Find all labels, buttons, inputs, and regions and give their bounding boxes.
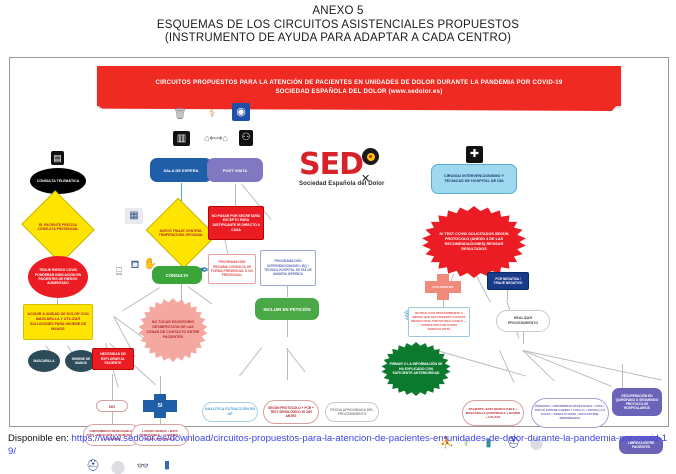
node-label: NO [97,404,127,409]
node-pcr-positiva[interactable]: PCR POSITIVA [425,274,461,300]
node-analitica-extraccion[interactable]: ANALÍTICA EXTRACCIÓN EN AP [202,402,258,422]
node-label: ACUDIR A UNIDAD DE DOLOR CON MASCARILLA … [24,312,92,332]
node-triaje-riesgo-covid[interactable]: TRIAJE RIESGO COVID PONDERAR INDICACIÓN … [28,256,88,298]
node-label: PERSONAL: UNIFORMIDAD DESECHABLE + FFP2 … [532,405,608,420]
footer-source: Disponible en: https://www.sedolor.es/do… [8,432,670,458]
node-label: SALA DE ESPERA [150,168,212,173]
sed-dart-icon: ✕ [361,172,370,185]
sed-wordmark: SED [299,150,405,180]
node-pcr-negativa[interactable]: PCR NEGATIVA / TRIAJE NEGATIVO [487,272,529,290]
node-label: NO PASAR POR SECRETARÍA EXCEPTO PARA JUS… [209,214,263,232]
node-necesidad-explorar[interactable]: NECESIDAD DE EXPLORAR AL PACIENTE [92,348,134,370]
node-label: NECESIDAD DE EXPLORAR AL PACIENTE [93,352,133,365]
node-label: MASCARILLA [28,359,60,363]
reception-desk-icon: ▦ [125,208,143,224]
node-nuevo-triaje-temperatura[interactable]: NUEVO TRIAJE CONTROL TEMPERATURA OPCIONA… [154,210,208,256]
node-realizar-procedimiento[interactable]: REALIZAR PROCEDIMIENTO [496,310,550,332]
node-label: PACIENTE: BATA DESECHABLE + MASCARILLA Q… [463,407,523,419]
connector [239,347,262,376]
node-branch-no[interactable]: NO [96,400,128,412]
globe-icon: ◉ [232,103,250,121]
banner: CIRCUITOS PROPUESTOS PARA LA ATENCIÓN DE… [97,66,621,106]
connector [287,348,288,380]
node-post-visita[interactable]: POST VISITA [207,158,263,182]
node-segun-protocolo-pcr[interactable]: SEGÚN PROTOCOLO + PCR + TEST SEROLÓGICO … [263,400,319,424]
node-label: CONSULTA [152,273,202,278]
node-label: SEGÚN PROTOCOLO + PCR + TEST SEROLÓGICO … [264,406,318,419]
connector [523,350,612,387]
node-test-covid-solicitados[interactable]: NI TEST COVID SOLICITADOS SEGÚN PROTOCOL… [420,206,528,278]
node-consulta[interactable]: CONSULTA [152,266,202,284]
banner-line-2: SOCIEDAD ESPAÑOLA DEL DOLOR (www.sedolor… [97,87,621,96]
node-label: NO TOCAR ESCRITORIO DESINFECCIÓN DE LAS … [137,320,209,340]
soap-dispenser-icon: ⌸ [113,264,125,280]
node-label: FECHA APROXIMADA DEL PROCEDIMIENTO [326,408,378,417]
node-fecha-aproximada[interactable]: FECHA APROXIMADA DEL PROCEDIMIENTO [325,402,379,422]
node-branch-si[interactable]: SI [143,394,177,418]
node-label: REALIZAR PROCEDIMIENTO [497,316,549,325]
hand-sanitizer-icon: ⛾ [128,257,142,273]
node-no-pasar-secretaria[interactable]: NO PASAR POR SECRETARÍA EXCEPTO PARA JUS… [208,206,264,240]
telemedicine-screen-icon: ▤ [51,151,64,165]
source-link[interactable]: https://www.sedolor.es/download/circuito… [8,433,667,457]
node-label: SI [158,403,163,409]
node-label: PCR NEGATIVA / TRIAJE NEGATIVO [488,277,528,285]
node-mascarilla[interactable]: MASCARILLA [28,350,60,372]
node-label: NI TEST COVID SOLICITADOS SEGÚN PROTOCOL… [420,232,528,253]
connector [286,348,305,372]
node-label: POST VISITA [207,168,263,173]
sed-target-icon [362,148,379,165]
sed-logo: SED ✕ Sociedad Española del Dolor [299,150,405,204]
connector [187,286,212,305]
connector [112,374,113,400]
node-acudir-unidad-dolor[interactable]: ACUDIR A UNIDAD DE DOLOR CON MASCARILLA … [23,304,93,340]
title-line-instrumento: (INSTRUMENTO DE AYUDA PARA ADAPTAR A CAD… [0,32,676,46]
hand-wash-icon: ⚕ [204,106,220,122]
walking-person-icon: ⚇ [239,130,253,146]
node-programacion-consulta[interactable]: PROGRAMACIÓN PRÓXIMA CONSULTA DE FORMA P… [208,254,256,284]
ppe-suit-icon: ⛑ [86,458,100,474]
node-sala-de-espera[interactable]: SALA DE ESPERA [150,158,212,182]
id-card-icon: ▥ [173,131,190,146]
connector [523,350,662,381]
node-label: EL PACIENTE PRECISA CONSULTA PRESENCIAL [30,223,86,232]
title-line-esquemas: ESQUEMAS DE LOS CIRCUITOS ASISTENCIALES … [0,19,676,33]
node-label: INCLUIR EN PETICIÓN [255,307,319,312]
node-label: CIRUGÍA/ INTERVENCIONISMO Y TÉCNICAS DE … [432,174,516,184]
node-precisa-consulta-presencial[interactable]: EL PACIENTE PRECISA CONSULTA PRESENCIAL [30,203,86,251]
waste-bin-icon: 🗑 [173,106,187,122]
connector [112,410,113,424]
poster-frame: CIRCUITOS PROPUESTOS PARA LA ATENCIÓN DE… [9,57,669,427]
node-incluir-en-peticion[interactable]: INCLUIR EN PETICIÓN [255,298,319,320]
goggles-icon: 👓 [134,460,152,474]
node-label: FIRMAR O LA INFORMACIÓN SE HA EXPLICADO … [380,362,452,376]
node-label: ANALÍTICA EXTRACCIÓN EN AP [203,407,257,416]
node-cirugia-intervencionismo[interactable]: CIRUGÍA/ INTERVENCIONISMO Y TÉCNICAS DE … [431,164,517,194]
connector [622,364,623,388]
node-label: PROGRAMACIÓN INTERVENCIONISMO / BQ / TÉC… [261,259,315,277]
node-recuperacion-quirofano[interactable]: RECUPERACIÓN EN QUIRÓFANO O SEGUIENDO PR… [612,388,662,416]
page-title: ANEXO 5 ESQUEMAS DE LOS CIRCUITOS ASISTE… [0,0,676,46]
face-mask-icon: ⬤ [111,458,125,474]
footer-prefix: Disponible en: [8,433,71,444]
node-label: NUEVO TRIAJE CONTROL TEMPERATURA OPCIONA… [154,229,208,238]
node-personal-epi[interactable]: PERSONAL: UNIFORMIDAD DESECHABLE + FFP2 … [531,398,609,428]
node-no-realizar-procedimiento[interactable]: NO REALIZAR PROCEDIMIENTO A MENOS QUE SE… [408,307,470,337]
node-label: RECUPERACIÓN EN QUIRÓFANO O SEGUIENDO PR… [612,394,662,411]
seat-distance-icon: ⌂⟷⌂ [196,130,236,146]
blue-figure-icon: ▮ [162,457,172,474]
node-programacion-intervencionismo[interactable]: PROGRAMACIÓN INTERVENCIONISMO / BQ / TÉC… [260,250,316,286]
node-no-tocar-escritorio[interactable]: NO TOCAR ESCRITORIO DESINFECCIÓN DE LAS … [137,298,209,362]
connector [499,350,515,383]
node-paciente-epi[interactable]: PACIENTE: BATA DESECHABLE + MASCARILLA Q… [462,400,524,426]
node-label: PCR POSITIVA [433,285,454,289]
node-label: NO REALIZAR PROCEDIMIENTO A MENOS QUE SE… [409,312,469,332]
node-label: TRIAJE RIESGO COVID PONDERAR INDICACIÓN … [28,268,88,286]
title-line-anexo: ANEXO 5 [0,5,676,19]
node-firmar-informacion[interactable]: FIRMAR O LA INFORMACIÓN SE HA EXPLICADO … [380,342,452,396]
banner-line-1: CIRCUITOS PROPUESTOS PARA LA ATENCIÓN DE… [97,66,621,87]
node-consulta-telematica[interactable]: CONSULTA TELEMÁTICA [30,168,86,194]
hospital-plus-icon: ✚ [466,146,483,163]
node-label: PROGRAMACIÓN PRÓXIMA CONSULTA DE FORMA P… [209,260,255,278]
node-label: CONSULTA TELEMÁTICA [30,179,86,184]
